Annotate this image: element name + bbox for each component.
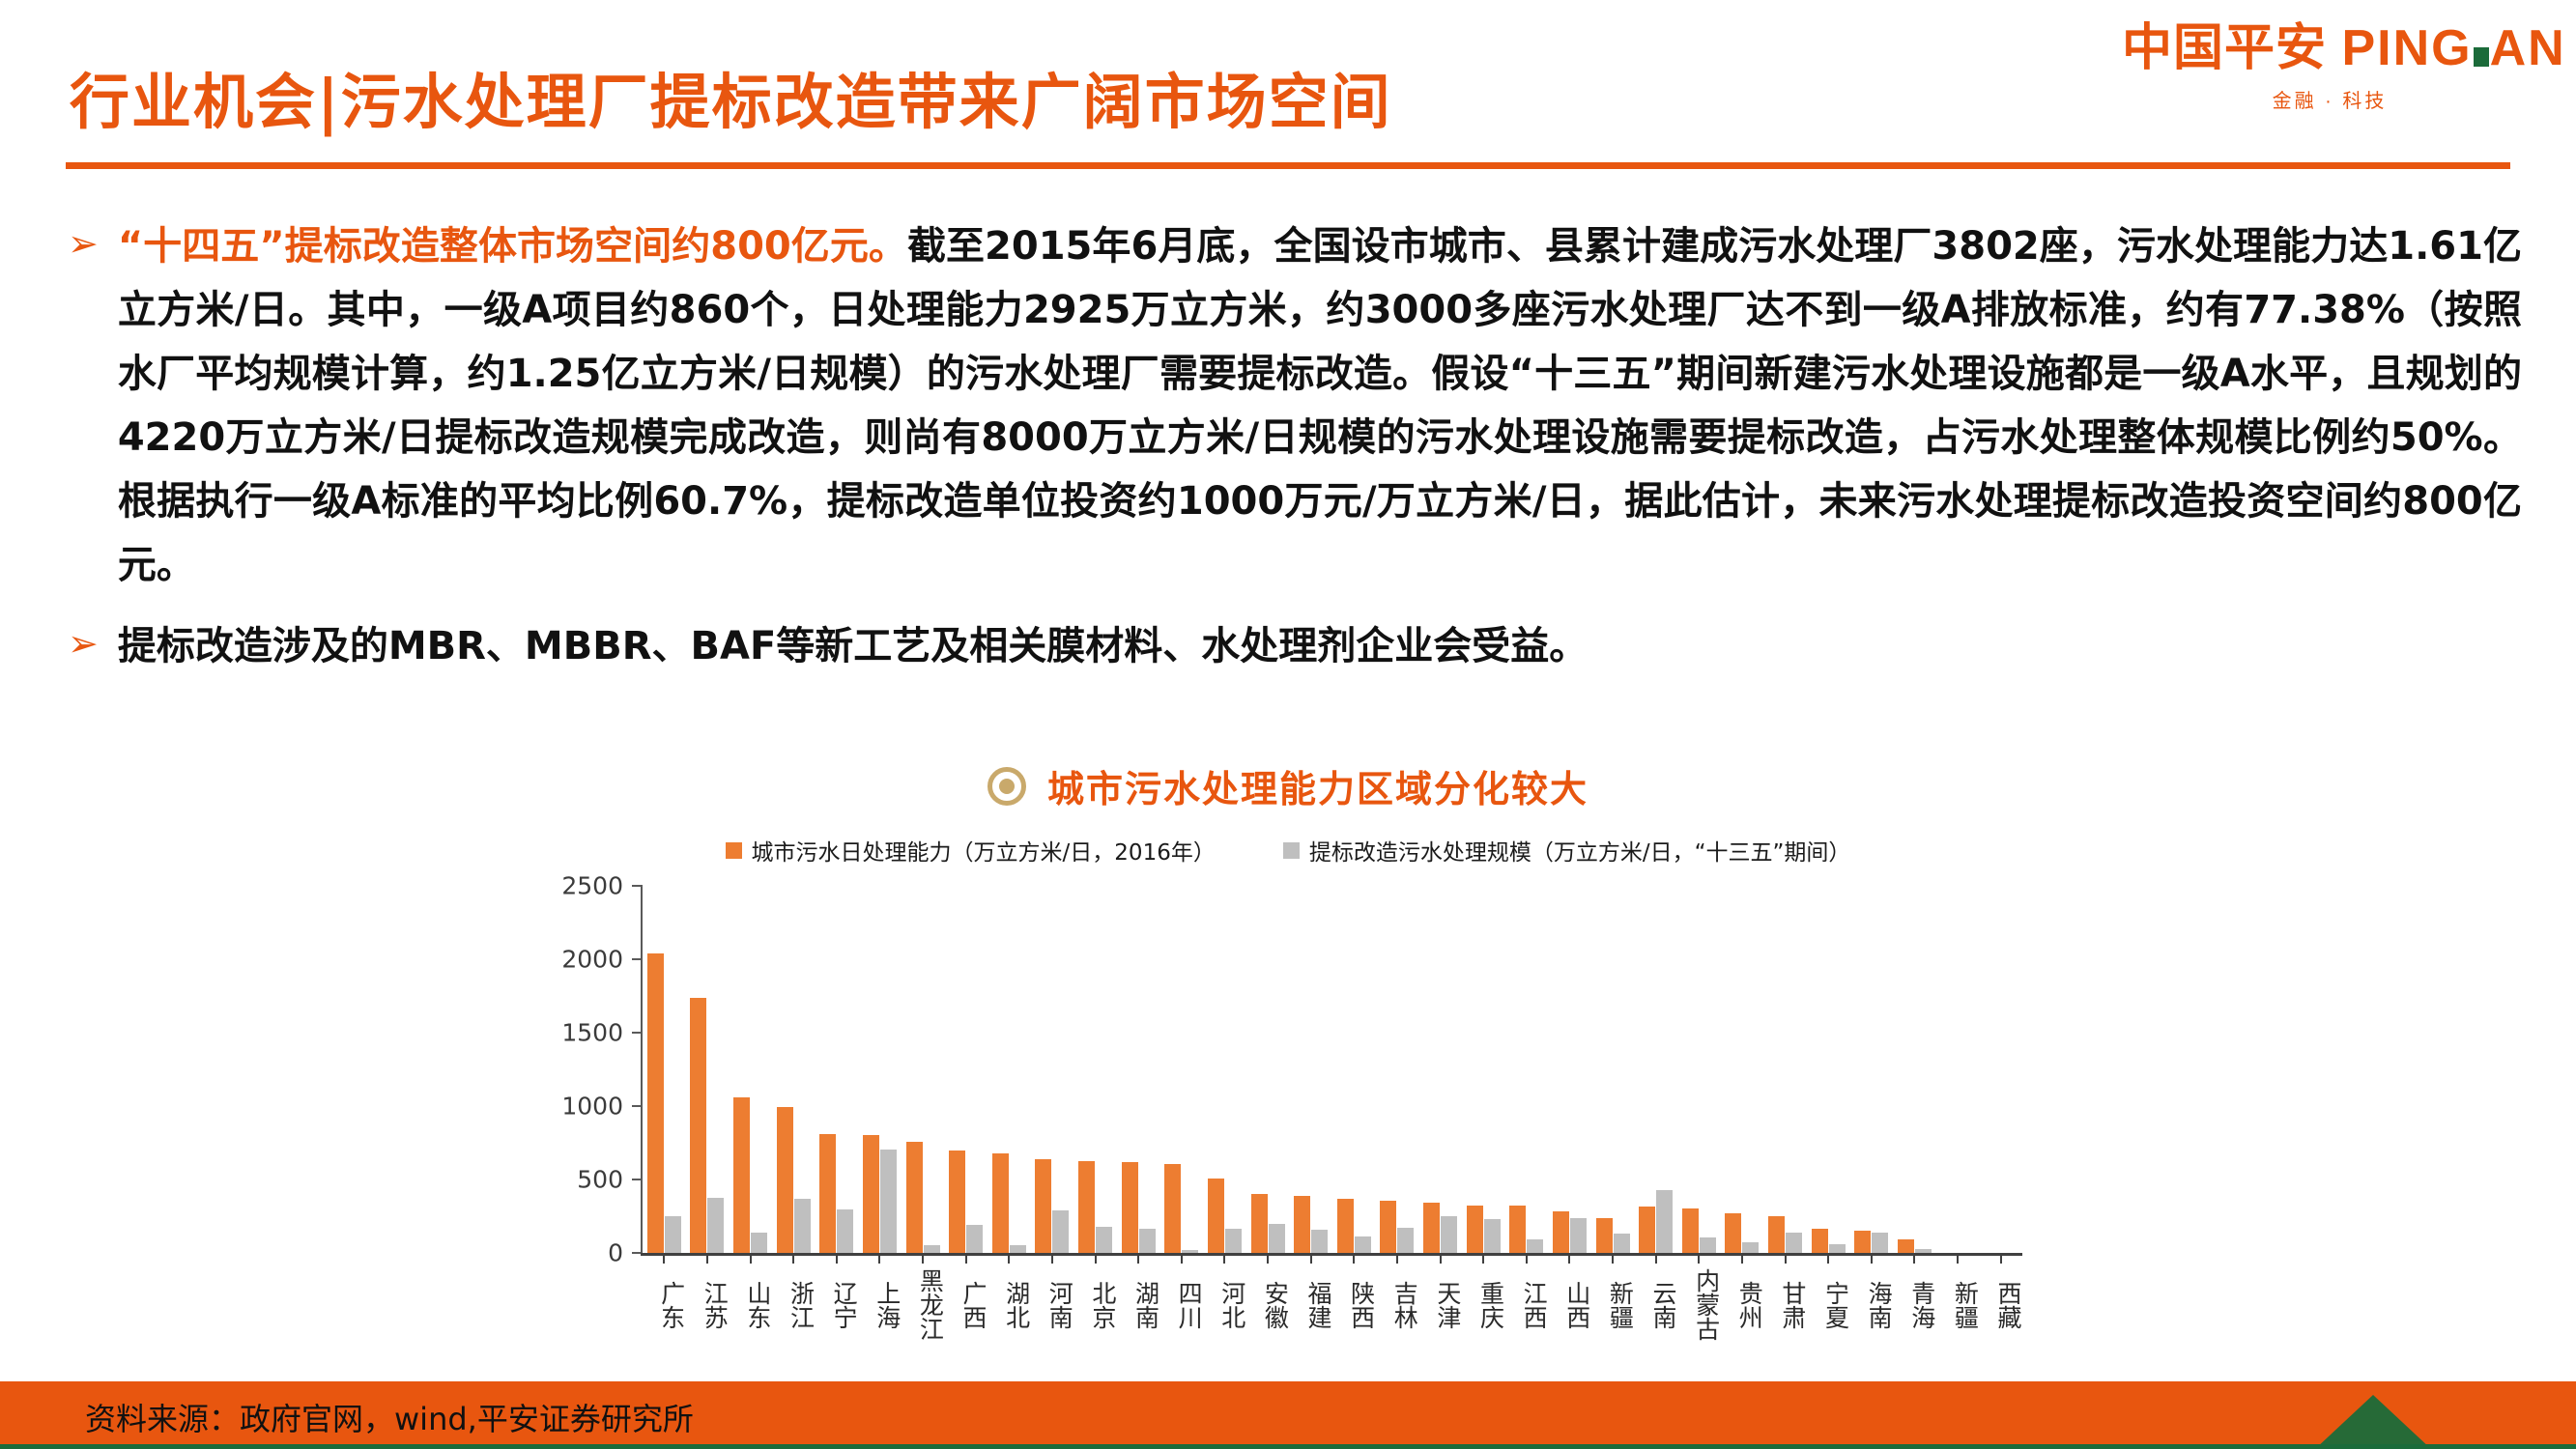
bar-group bbox=[1332, 886, 1376, 1253]
y-tick-mark bbox=[632, 1179, 643, 1180]
x-tick-label: 新疆 bbox=[1936, 1268, 1980, 1341]
bar-series1 bbox=[1423, 1203, 1440, 1253]
y-tick-mark bbox=[632, 958, 643, 960]
bullet-arrow-icon-2: ➢ bbox=[68, 614, 99, 663]
logo-primary-text: 中国平安 PINGAN bbox=[2122, 23, 2537, 73]
x-axis-labels: 广东江苏山东浙江辽宁上海黑龙江广西湖北河南北京湖南四川河北安徽福建陕西吉林天津重… bbox=[643, 1268, 2022, 1341]
x-tick-label: 云南 bbox=[1634, 1268, 1677, 1341]
bar-group bbox=[686, 886, 730, 1253]
bar-series1 bbox=[1854, 1231, 1871, 1253]
x-label-cell: 宁夏 bbox=[1807, 1268, 1850, 1341]
y-tick-label: 500 bbox=[577, 1166, 623, 1194]
bar-series1 bbox=[777, 1107, 793, 1253]
chart-title: 城市污水处理能力区域分化较大 bbox=[1047, 759, 1589, 812]
bar-group bbox=[1936, 886, 1980, 1253]
bullet-item-2: ➢ 提标改造涉及的MBR、MBBR、BAF等新工艺及相关膜材料、水处理剂企业会受… bbox=[68, 614, 2522, 678]
bar-group bbox=[1376, 886, 1419, 1253]
x-label-cell: 河南 bbox=[1031, 1268, 1074, 1341]
x-label-cell: 内蒙古 bbox=[1677, 1268, 1721, 1341]
logo-en-text: PINGAN bbox=[2341, 20, 2565, 76]
x-tick-mark bbox=[1223, 1253, 1225, 1264]
bar-series1 bbox=[1337, 1199, 1354, 1253]
bar-group bbox=[1763, 886, 1807, 1253]
bar-group bbox=[1073, 886, 1117, 1253]
bar-group bbox=[1893, 886, 1936, 1253]
x-label-cell: 河北 bbox=[1203, 1268, 1246, 1341]
x-label-cell: 云南 bbox=[1634, 1268, 1677, 1341]
x-tick-mark bbox=[1267, 1253, 1269, 1264]
bar-group bbox=[1203, 886, 1246, 1253]
logo-cn-text: 中国平安 bbox=[2122, 20, 2327, 76]
footer-bar: 资料来源：政府官网，wind,平安证券研究所 bbox=[0, 1381, 2576, 1449]
x-label-cell: 海南 bbox=[1850, 1268, 1894, 1341]
bar-series2 bbox=[1570, 1218, 1587, 1253]
y-tick-mark bbox=[632, 1105, 643, 1107]
x-tick-mark bbox=[1568, 1253, 1570, 1264]
bar-series2 bbox=[1742, 1242, 1759, 1253]
x-tick-label: 贵州 bbox=[1721, 1268, 1764, 1341]
bar-series2 bbox=[1656, 1190, 1673, 1253]
x-tick-label: 海南 bbox=[1850, 1268, 1894, 1341]
bar-series1 bbox=[1596, 1218, 1613, 1253]
bar-series2 bbox=[751, 1233, 767, 1253]
x-tick-label: 山西 bbox=[1548, 1268, 1591, 1341]
x-label-cell: 浙江 bbox=[772, 1268, 816, 1341]
x-tick-mark bbox=[1482, 1253, 1484, 1264]
bar-series1 bbox=[1898, 1239, 1914, 1253]
bar-group bbox=[1246, 886, 1290, 1253]
x-tick-mark bbox=[922, 1253, 924, 1264]
x-tick-label: 湖北 bbox=[987, 1268, 1031, 1341]
x-label-cell: 新疆 bbox=[1936, 1268, 1980, 1341]
bar-series2 bbox=[1311, 1230, 1328, 1253]
footer-triangle-icon bbox=[2315, 1395, 2431, 1449]
x-tick-label: 四川 bbox=[1160, 1268, 1204, 1341]
bar-series2 bbox=[1139, 1229, 1156, 1253]
bar-group bbox=[772, 886, 816, 1253]
bullet-item-1: ➢ “十四五”提标改造整体市场空间约800亿元。截至2015年6月底，全国设市城… bbox=[68, 214, 2522, 597]
x-label-cell: 天津 bbox=[1418, 1268, 1462, 1341]
bullet-highlight-1: “十四五”提标改造整体市场空间约800亿元。 bbox=[118, 224, 907, 269]
x-label-cell: 四川 bbox=[1160, 1268, 1204, 1341]
bar-group bbox=[1418, 886, 1462, 1253]
x-label-cell: 广东 bbox=[643, 1268, 686, 1341]
bar-series1 bbox=[819, 1134, 836, 1253]
bar-series1 bbox=[1553, 1211, 1569, 1253]
x-tick-label: 河南 bbox=[1031, 1268, 1074, 1341]
x-label-cell: 湖北 bbox=[987, 1268, 1031, 1341]
bar-series1 bbox=[1164, 1164, 1181, 1253]
x-tick-label: 安徽 bbox=[1246, 1268, 1290, 1341]
x-tick-mark bbox=[836, 1253, 838, 1264]
bar-series1 bbox=[690, 998, 706, 1253]
y-tick-mark bbox=[632, 1032, 643, 1034]
x-tick-label: 福建 bbox=[1289, 1268, 1332, 1341]
bar-series2 bbox=[707, 1198, 724, 1253]
x-axis-line bbox=[641, 1253, 2022, 1256]
title-divider bbox=[66, 162, 2510, 169]
bar-series2 bbox=[1527, 1239, 1543, 1253]
x-tick-mark bbox=[1137, 1253, 1139, 1264]
bar-series1 bbox=[1725, 1213, 1741, 1253]
bar-series2 bbox=[1225, 1229, 1242, 1253]
x-tick-mark bbox=[1741, 1253, 1743, 1264]
x-label-cell: 北京 bbox=[1073, 1268, 1117, 1341]
x-tick-label: 江苏 bbox=[686, 1268, 730, 1341]
x-tick-label: 黑龙江 bbox=[902, 1268, 945, 1341]
legend-label-series2: 提标改造污水处理规模（万立方米/日，“十三五”期间） bbox=[1309, 834, 1851, 867]
chart-bars bbox=[643, 886, 2022, 1253]
bar-group bbox=[1850, 886, 1894, 1253]
x-label-cell: 辽宁 bbox=[816, 1268, 859, 1341]
bar-group bbox=[1807, 886, 1850, 1253]
legend-item-1: 城市污水日处理能力（万立方米/日，2016年） bbox=[726, 834, 1216, 867]
chart-section: 城市污水处理能力区域分化较大 城市污水日处理能力（万立方米/日，2016年） 提… bbox=[0, 759, 2576, 1301]
page-title: 行业机会|污水处理厂提标改造带来广阔市场空间 bbox=[70, 53, 1392, 140]
y-tick-label: 2500 bbox=[561, 872, 623, 900]
x-label-cell: 湖南 bbox=[1117, 1268, 1160, 1341]
x-label-cell: 山西 bbox=[1548, 1268, 1591, 1341]
bar-group bbox=[1031, 886, 1074, 1253]
x-tick-mark bbox=[1396, 1253, 1398, 1264]
y-axis-labels: 05001000150020002500 bbox=[544, 886, 633, 1253]
x-label-cell: 陕西 bbox=[1332, 1268, 1376, 1341]
x-tick-label: 广西 bbox=[944, 1268, 987, 1341]
bar-group bbox=[1462, 886, 1505, 1253]
x-tick-label: 内蒙古 bbox=[1677, 1268, 1721, 1341]
x-tick-label: 重庆 bbox=[1462, 1268, 1505, 1341]
bar-series2 bbox=[966, 1225, 983, 1253]
x-tick-mark bbox=[878, 1253, 880, 1264]
x-tick-label: 甘肃 bbox=[1763, 1268, 1807, 1341]
x-tick-mark bbox=[1051, 1253, 1053, 1264]
bar-group bbox=[987, 886, 1031, 1253]
x-label-cell: 上海 bbox=[858, 1268, 902, 1341]
bar-group bbox=[858, 886, 902, 1253]
x-tick-mark bbox=[1353, 1253, 1355, 1264]
source-note: 资料来源：政府官网，wind,平安证券研究所 bbox=[85, 1395, 694, 1439]
bar-series1 bbox=[1035, 1159, 1051, 1253]
x-tick-mark bbox=[792, 1253, 794, 1264]
x-label-cell: 新疆 bbox=[1591, 1268, 1635, 1341]
legend-swatch-series1 bbox=[726, 842, 742, 859]
bar-group bbox=[643, 886, 686, 1253]
x-label-cell: 西藏 bbox=[1979, 1268, 2022, 1341]
x-tick-label: 上海 bbox=[858, 1268, 902, 1341]
x-tick-mark bbox=[1008, 1253, 1010, 1264]
y-tick-label: 1000 bbox=[561, 1093, 623, 1121]
bar-series2 bbox=[1269, 1224, 1285, 1253]
x-label-cell: 黑龙江 bbox=[902, 1268, 945, 1341]
x-tick-label: 河北 bbox=[1203, 1268, 1246, 1341]
y-tick-label: 2000 bbox=[561, 946, 623, 974]
bar-series2 bbox=[1355, 1236, 1371, 1253]
chart-header: 城市污水处理能力区域分化较大 bbox=[0, 759, 2576, 812]
x-label-cell: 福建 bbox=[1289, 1268, 1332, 1341]
bar-series1 bbox=[1509, 1206, 1526, 1253]
x-tick-mark bbox=[1913, 1253, 1915, 1264]
chart-plot-area: 05001000150020002500 广东江苏山东浙江辽宁上海黑龙江广西湖北… bbox=[544, 886, 2032, 1301]
bar-series1 bbox=[949, 1151, 965, 1253]
bar-group bbox=[944, 886, 987, 1253]
bar-group bbox=[1721, 886, 1764, 1253]
x-tick-label: 浙江 bbox=[772, 1268, 816, 1341]
x-tick-mark bbox=[1871, 1253, 1873, 1264]
x-label-cell: 山东 bbox=[729, 1268, 772, 1341]
x-tick-mark bbox=[1827, 1253, 1829, 1264]
x-tick-label: 广东 bbox=[643, 1268, 686, 1341]
x-tick-mark bbox=[1095, 1253, 1097, 1264]
pingan-logo: 中国平安 PINGAN 金融 · 科技 bbox=[2122, 23, 2537, 113]
x-tick-mark bbox=[1785, 1253, 1787, 1264]
bullet-paragraph-1: “十四五”提标改造整体市场空间约800亿元。截至2015年6月底，全国设市城市、… bbox=[118, 214, 2522, 597]
bar-group bbox=[1634, 886, 1677, 1253]
logo-subtitle: 金融 · 科技 bbox=[2122, 85, 2537, 113]
chart-legend: 城市污水日处理能力（万立方米/日，2016年） 提标改造污水处理规模（万立方米/… bbox=[0, 834, 2576, 867]
x-tick-mark bbox=[750, 1253, 752, 1264]
bar-group bbox=[1117, 886, 1160, 1253]
x-tick-label: 西藏 bbox=[1979, 1268, 2022, 1341]
x-tick-mark bbox=[965, 1253, 967, 1264]
bullseye-icon bbox=[987, 767, 1026, 806]
x-tick-mark bbox=[1310, 1253, 1312, 1264]
footer-bottom-line bbox=[0, 1444, 2576, 1449]
x-tick-label: 山东 bbox=[729, 1268, 772, 1341]
bar-series1 bbox=[733, 1097, 750, 1253]
bar-series1 bbox=[1122, 1162, 1138, 1253]
bar-series1 bbox=[1812, 1229, 1828, 1253]
x-tick-label: 辽宁 bbox=[816, 1268, 859, 1341]
bar-series1 bbox=[992, 1153, 1009, 1253]
x-label-cell: 广西 bbox=[944, 1268, 987, 1341]
bar-series2 bbox=[1786, 1233, 1802, 1253]
bar-series1 bbox=[1380, 1201, 1396, 1253]
bar-series1 bbox=[906, 1142, 923, 1253]
x-tick-label: 陕西 bbox=[1332, 1268, 1376, 1341]
bar-series2 bbox=[794, 1199, 811, 1253]
bullet-paragraph-2: 提标改造涉及的MBR、MBBR、BAF等新工艺及相关膜材料、水处理剂企业会受益。 bbox=[118, 614, 1588, 678]
x-tick-mark bbox=[2000, 1253, 2002, 1264]
x-label-cell: 贵州 bbox=[1721, 1268, 1764, 1341]
x-tick-mark bbox=[663, 1253, 665, 1264]
bar-group bbox=[816, 886, 859, 1253]
bar-series1 bbox=[1682, 1208, 1699, 1253]
x-tick-label: 宁夏 bbox=[1807, 1268, 1850, 1341]
x-label-cell: 安徽 bbox=[1246, 1268, 1290, 1341]
bar-series2 bbox=[1397, 1228, 1414, 1253]
bar-series2 bbox=[1829, 1244, 1846, 1253]
legend-label-series1: 城市污水日处理能力（万立方米/日，2016年） bbox=[752, 834, 1216, 867]
x-tick-label: 北京 bbox=[1073, 1268, 1117, 1341]
bar-series1 bbox=[1251, 1194, 1268, 1253]
bar-series1 bbox=[1768, 1216, 1785, 1253]
bar-group bbox=[902, 886, 945, 1253]
bullet-arrow-icon: ➢ bbox=[68, 214, 99, 263]
x-tick-label: 湖南 bbox=[1117, 1268, 1160, 1341]
bar-series2 bbox=[1182, 1250, 1198, 1253]
slide-content: ➢ “十四五”提标改造整体市场空间约800亿元。截至2015年6月底，全国设市城… bbox=[68, 214, 2522, 678]
bar-series2 bbox=[1915, 1249, 1932, 1253]
x-label-cell: 重庆 bbox=[1462, 1268, 1505, 1341]
bar-group bbox=[1160, 886, 1204, 1253]
bullet-body-1: 截至2015年6月底，全国设市城市、县累计建成污水处理厂3802座，污水处理能力… bbox=[118, 224, 2522, 587]
bar-series2 bbox=[665, 1216, 681, 1253]
bar-series2 bbox=[1096, 1227, 1112, 1253]
bar-group bbox=[1548, 886, 1591, 1253]
x-tick-mark bbox=[1181, 1253, 1183, 1264]
bar-series2 bbox=[1700, 1237, 1716, 1253]
x-label-cell: 吉林 bbox=[1376, 1268, 1419, 1341]
bar-series1 bbox=[1467, 1206, 1483, 1253]
bar-series2 bbox=[880, 1150, 897, 1253]
bar-group bbox=[1591, 886, 1635, 1253]
bar-group bbox=[1505, 886, 1549, 1253]
bar-series1 bbox=[647, 953, 664, 1253]
bar-series2 bbox=[1484, 1219, 1501, 1253]
bar-series1 bbox=[1639, 1207, 1655, 1253]
x-tick-mark bbox=[706, 1253, 708, 1264]
x-tick-label: 天津 bbox=[1418, 1268, 1462, 1341]
logo-green-square-icon bbox=[2474, 47, 2489, 67]
bar-series2 bbox=[1441, 1216, 1457, 1253]
bar-series2 bbox=[1872, 1233, 1888, 1253]
legend-swatch-series2 bbox=[1283, 842, 1300, 859]
bar-series1 bbox=[1208, 1179, 1224, 1253]
x-tick-label: 新疆 bbox=[1591, 1268, 1635, 1341]
x-label-cell: 甘肃 bbox=[1763, 1268, 1807, 1341]
bar-series1 bbox=[1078, 1161, 1095, 1253]
x-tick-mark bbox=[1957, 1253, 1959, 1264]
bar-series2 bbox=[1010, 1245, 1026, 1253]
x-tick-label: 江西 bbox=[1505, 1268, 1549, 1341]
bar-series2 bbox=[1052, 1210, 1069, 1253]
legend-item-2: 提标改造污水处理规模（万立方米/日，“十三五”期间） bbox=[1283, 834, 1851, 867]
bar-group bbox=[1979, 886, 2022, 1253]
x-tick-label: 吉林 bbox=[1376, 1268, 1419, 1341]
x-tick-mark bbox=[1526, 1253, 1528, 1264]
x-tick-label: 青海 bbox=[1893, 1268, 1936, 1341]
bar-series2 bbox=[1614, 1234, 1630, 1253]
x-tick-mark bbox=[1440, 1253, 1442, 1264]
bar-group bbox=[1289, 886, 1332, 1253]
bar-series1 bbox=[863, 1135, 879, 1253]
x-tick-mark bbox=[1655, 1253, 1657, 1264]
y-tick-label: 0 bbox=[608, 1239, 623, 1267]
x-label-cell: 江苏 bbox=[686, 1268, 730, 1341]
bar-series2 bbox=[924, 1245, 940, 1253]
bar-series2 bbox=[837, 1209, 853, 1253]
bar-group bbox=[1677, 886, 1721, 1253]
x-tick-mark bbox=[1612, 1253, 1614, 1264]
x-tick-mark bbox=[1698, 1253, 1700, 1264]
x-label-cell: 青海 bbox=[1893, 1268, 1936, 1341]
bar-group bbox=[729, 886, 772, 1253]
bar-series1 bbox=[1294, 1196, 1310, 1253]
x-label-cell: 江西 bbox=[1505, 1268, 1549, 1341]
y-tick-label: 1500 bbox=[561, 1019, 623, 1047]
y-tick-mark bbox=[632, 885, 643, 887]
